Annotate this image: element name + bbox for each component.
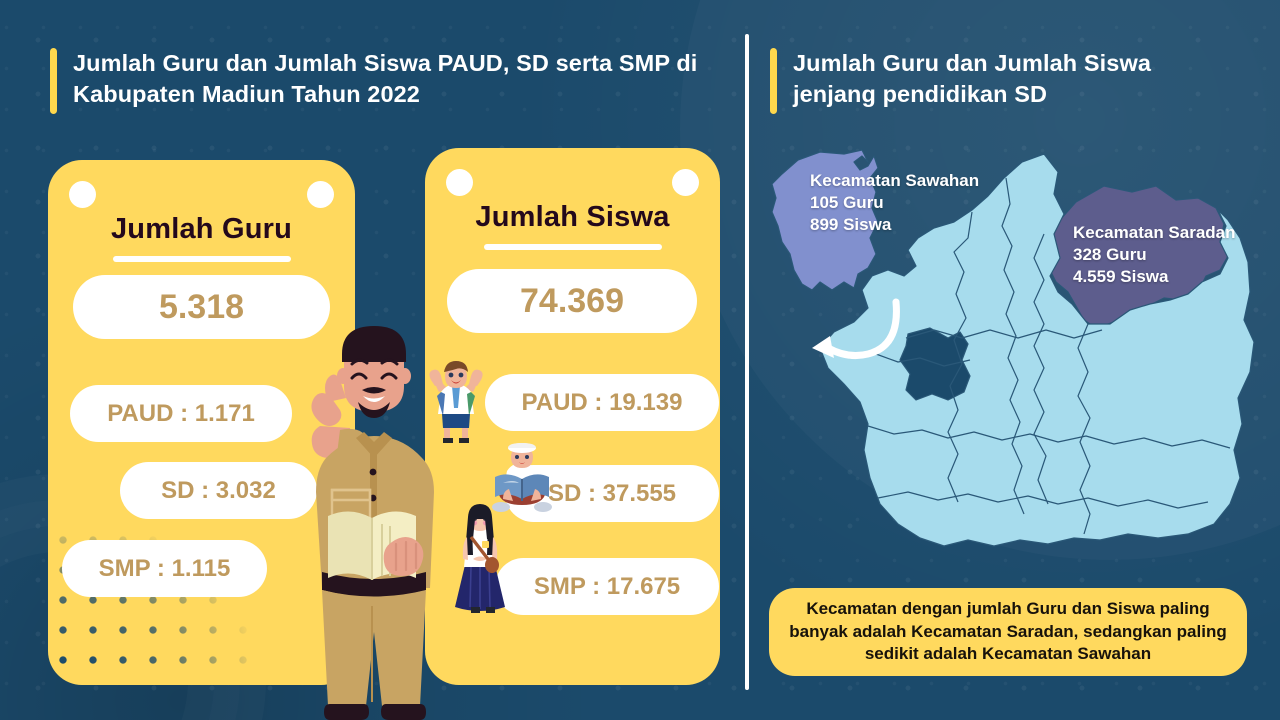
title-accent-bar-left [50, 48, 57, 114]
card-siswa-row-paud: PAUD : 19.139 [485, 374, 719, 431]
card-guru-rule [113, 256, 291, 262]
card-siswa-row-smp: SMP : 17.675 [495, 558, 719, 615]
card-guru-row-sd: SD : 3.032 [120, 462, 317, 519]
title-accent-bar-right [770, 48, 777, 114]
stat-card-guru: Jumlah Guru 5.318 PAUD : 1.171 SD : 3.03… [48, 160, 355, 685]
map-label-sawahan-name: Kecamatan Sawahan [810, 170, 979, 192]
left-title-text: Jumlah Guru dan Jumlah Siswa PAUD, SD se… [73, 48, 710, 114]
map-label-saradan-name: Kecamatan Saradan [1073, 222, 1236, 244]
map-label-saradan: Kecamatan Saradan 328 Guru 4.559 Siswa [1073, 222, 1236, 288]
punch-hole-right-icon [672, 169, 699, 196]
map-label-sawahan-students: 899 Siswa [810, 214, 979, 236]
punch-hole-left-icon [446, 169, 473, 196]
punch-hole-right-icon [307, 181, 334, 208]
card-guru-heading: Jumlah Guru [48, 213, 355, 246]
stat-card-siswa: Jumlah Siswa 74.369 PAUD : 19.139 SD : 3… [425, 148, 720, 685]
summary-note-box: Kecamatan dengan jumlah Guru dan Siswa p… [769, 588, 1247, 676]
summary-note-text: Kecamatan dengan jumlah Guru dan Siswa p… [783, 598, 1233, 666]
right-panel-title: Jumlah Guru dan Jumlah Siswa jenjang pen… [770, 48, 1240, 114]
punch-hole-left-icon [69, 181, 96, 208]
card-guru-total-value: 5.318 [73, 275, 330, 339]
map-region-dark [900, 328, 970, 400]
card-siswa-row-sd: SD : 37.555 [505, 465, 719, 522]
card-siswa-rule [484, 244, 662, 250]
left-panel-title: Jumlah Guru dan Jumlah Siswa PAUD, SD se… [50, 48, 710, 114]
map-label-saradan-students: 4.559 Siswa [1073, 266, 1236, 288]
right-title-text: Jumlah Guru dan Jumlah Siswa jenjang pen… [793, 48, 1240, 114]
vertical-divider [745, 34, 749, 690]
infographic-canvas: Jumlah Guru dan Jumlah Siswa PAUD, SD se… [0, 0, 1280, 720]
map-label-sawahan-teachers: 105 Guru [810, 192, 979, 214]
map-label-sawahan: Kecamatan Sawahan 105 Guru 899 Siswa [810, 170, 979, 236]
card-siswa-heading: Jumlah Siswa [425, 201, 720, 234]
map-label-saradan-teachers: 328 Guru [1073, 244, 1236, 266]
card-siswa-total-value: 74.369 [447, 269, 697, 333]
card-guru-row-smp: SMP : 1.115 [62, 540, 267, 597]
card-guru-row-paud: PAUD : 1.171 [70, 385, 292, 442]
